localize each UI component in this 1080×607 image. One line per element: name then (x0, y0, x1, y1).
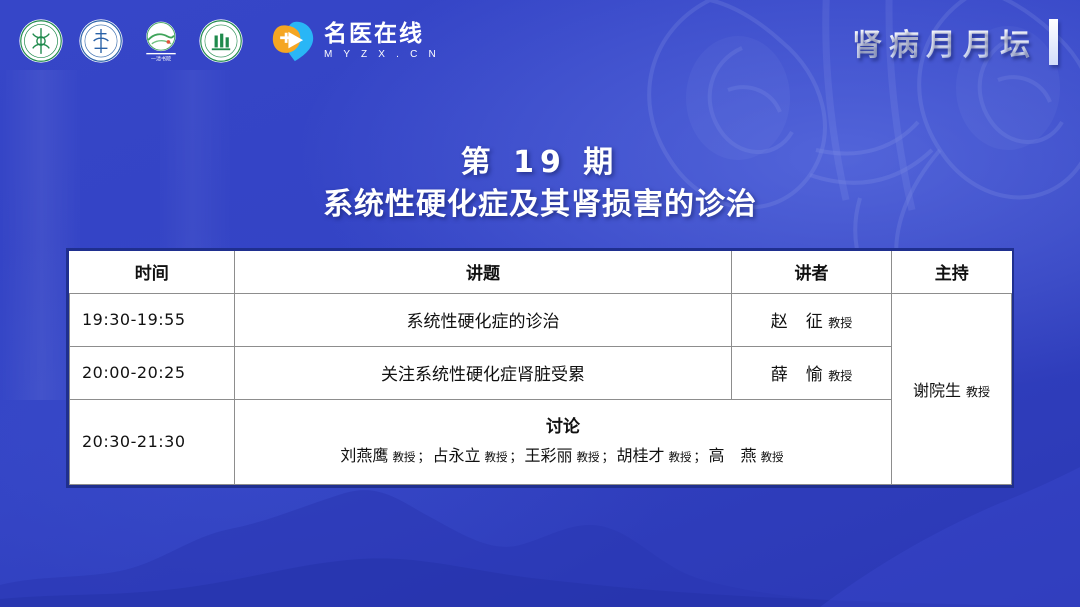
brand-name-en: M Y Z X . C N (324, 50, 440, 60)
panelist-list: 刘燕鹰教授；占永立教授；王彩丽教授；胡桂才教授；高 燕教授 (235, 444, 891, 469)
panelist-title: 教授 (669, 450, 692, 464)
issue-number: 第 19 期 (0, 146, 1080, 181)
top-bar: 一清书院 名医在线 M Y Z (0, 0, 1080, 83)
schedule-table: 时间 讲题 讲者 主持 19:30-19:55 系统性硬化症的诊治 赵 征教授 … (69, 251, 1012, 485)
session-time: 20:30-21:30 (70, 399, 235, 484)
session-topic: 系统性硬化症的诊治 (235, 293, 732, 346)
panelist-separator: ； (509, 450, 522, 465)
table-header-row: 时间 讲题 讲者 主持 (70, 251, 1012, 293)
svg-text:一清书院: 一清书院 (151, 55, 171, 62)
session-topic: 关注系统性硬化症肾脏受累 (235, 346, 732, 399)
hospital-emblem-4-icon (198, 18, 244, 64)
panelist-separator: ； (694, 450, 707, 465)
panelist-title: 教授 (484, 450, 507, 464)
session-time: 19:30-19:55 (70, 293, 235, 346)
speaker-name: 赵 征 (771, 312, 824, 332)
panelist-title: 教授 (761, 450, 784, 464)
myzx-brand-logo: 名医在线 M Y Z X . C N (270, 19, 440, 63)
program-banner: 肾病月月坛 (852, 16, 1058, 68)
presentation-slide: 一清书院 名医在线 M Y Z (0, 0, 1080, 607)
mountain-silhouette-decoration (0, 467, 1080, 607)
session-speaker: 薛 愉教授 (732, 346, 892, 399)
hospital-emblem-2-icon (78, 18, 124, 64)
panelist-name: 刘燕鹰 (340, 446, 388, 465)
schedule-table-container: 时间 讲题 讲者 主持 19:30-19:55 系统性硬化症的诊治 赵 征教授 … (66, 248, 1014, 488)
column-header-topic: 讲题 (235, 251, 732, 293)
table-row: 20:30-21:30 讨论 刘燕鹰教授；占永立教授；王彩丽教授；胡桂才教授；高… (70, 399, 1012, 484)
host-name: 谢院生 (913, 381, 961, 400)
session-speaker: 赵 征教授 (732, 293, 892, 346)
page-title: 系统性硬化症及其肾损害的诊治 (0, 187, 1080, 223)
panelist-name: 王彩丽 (524, 446, 572, 465)
speaker-title: 教授 (828, 316, 852, 330)
panelist-title: 教授 (577, 450, 600, 464)
table-row: 20:00-20:25 关注系统性硬化症肾脏受累 薛 愉教授 (70, 346, 1012, 399)
discussion-label: 讨论 (235, 414, 891, 440)
host-title: 教授 (966, 385, 990, 399)
panelist-name: 胡桂才 (617, 446, 665, 465)
banner-accent-bar (1049, 19, 1058, 65)
table-row: 19:30-19:55 系统性硬化症的诊治 赵 征教授 谢院生教授 (70, 293, 1012, 346)
panelist-name: 高 燕 (709, 446, 757, 465)
session-time: 20:00-20:25 (70, 346, 235, 399)
speaker-name: 薛 愉 (771, 365, 824, 385)
hospital-emblem-1-icon (18, 18, 64, 64)
slide-headline: 第 19 期 系统性硬化症及其肾损害的诊治 (0, 146, 1080, 223)
panelist-separator: ； (602, 450, 615, 465)
session-host: 谢院生教授 (892, 293, 1012, 484)
play-heart-logo-icon (270, 19, 316, 63)
banner-title: 肾病月月坛 (852, 20, 1039, 64)
discussion-session: 讨论 刘燕鹰教授；占永立教授；王彩丽教授；胡桂才教授；高 燕教授 (235, 399, 892, 484)
speaker-title: 教授 (828, 369, 852, 383)
partner-logo-strip: 一清书院 名医在线 M Y Z (18, 14, 440, 68)
column-header-time: 时间 (70, 251, 235, 293)
panelist-title: 教授 (392, 450, 415, 464)
brand-name-cn: 名医在线 (324, 23, 440, 46)
panelist-name: 占永立 (432, 446, 480, 465)
panelist-separator: ； (417, 450, 430, 465)
column-header-host: 主持 (892, 251, 1012, 293)
column-header-speaker: 讲者 (732, 251, 892, 293)
yiqing-academy-emblem-icon: 一清书院 (138, 18, 184, 64)
